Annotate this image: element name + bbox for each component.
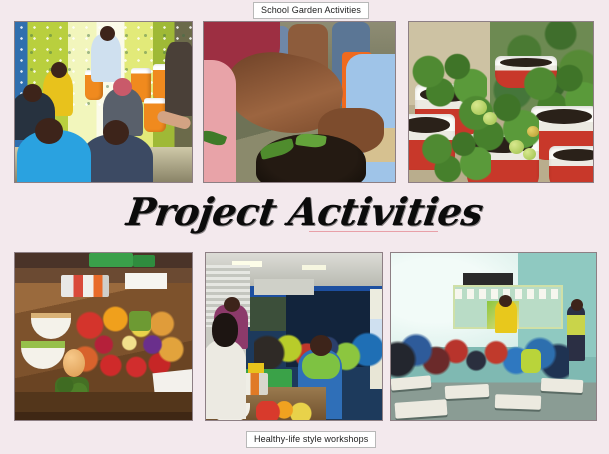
photo4-green-crate [133,255,155,267]
photo3-tomato [527,126,539,137]
slide-title-text: Project Activities [124,189,486,235]
photo5-presenter-head [224,297,240,312]
photo5-child-head [310,335,332,356]
photo6-standing-head [571,299,583,311]
slide-title: Project Activities [0,189,609,237]
photo5-crate-item [248,363,264,373]
photo6-desk [445,384,490,399]
photo2-pink-shirt [203,60,236,183]
photo3-bucket-pot [549,146,594,183]
photo1-child-head [100,26,115,41]
photo5-board [254,279,314,295]
photo3-tomato [483,112,497,125]
photo-hands-planting-seedling [203,21,396,183]
photo4-green-beans [129,311,151,331]
photo4-green-crate [89,253,133,267]
photo-tomato-plants-in-buckets [408,21,594,183]
photo6-banner [463,273,513,285]
photo1-child-head [51,62,67,78]
photo1-adult [165,42,193,116]
photo6-desk [495,394,541,410]
photo4-table-edge [15,392,192,414]
photo1-child [91,34,121,82]
photo3-tomato [523,148,536,160]
photo1-child-head [103,120,129,145]
photo6-standing-vest [567,315,585,335]
photo-healthy-food-display-table [14,252,193,421]
photo5-child-sleeve [302,353,340,379]
caption-school-garden-activities: School Garden Activities [253,2,369,19]
caption-healthy-lifestyle-workshops: Healthy-life style workshops [246,431,376,448]
photo3-tomato [509,140,524,154]
photo5-standing-woman [205,339,246,419]
photo-children-at-garden-banner [14,21,193,183]
photo1-child-head [35,118,63,144]
photo5-produce [256,401,320,421]
photo4-paper [125,273,167,289]
slide-canvas: School Garden Activities [0,0,609,454]
photo6-desk [541,378,584,393]
photo4-melon [63,349,85,377]
title-underline [309,231,438,232]
photo4-table-front [15,412,192,420]
photo-teal-classroom-presentation [390,252,597,421]
photo3-foliage [419,130,491,183]
photo5-ceiling-light [302,265,326,270]
photo1-child-head [23,84,42,102]
photo4-cups [61,275,109,297]
photo1-child-head [113,78,132,96]
photo6-presenter-head [499,295,512,307]
photo5-standing-woman-head [212,313,238,347]
photo-classroom-workshop-audience [205,252,383,421]
